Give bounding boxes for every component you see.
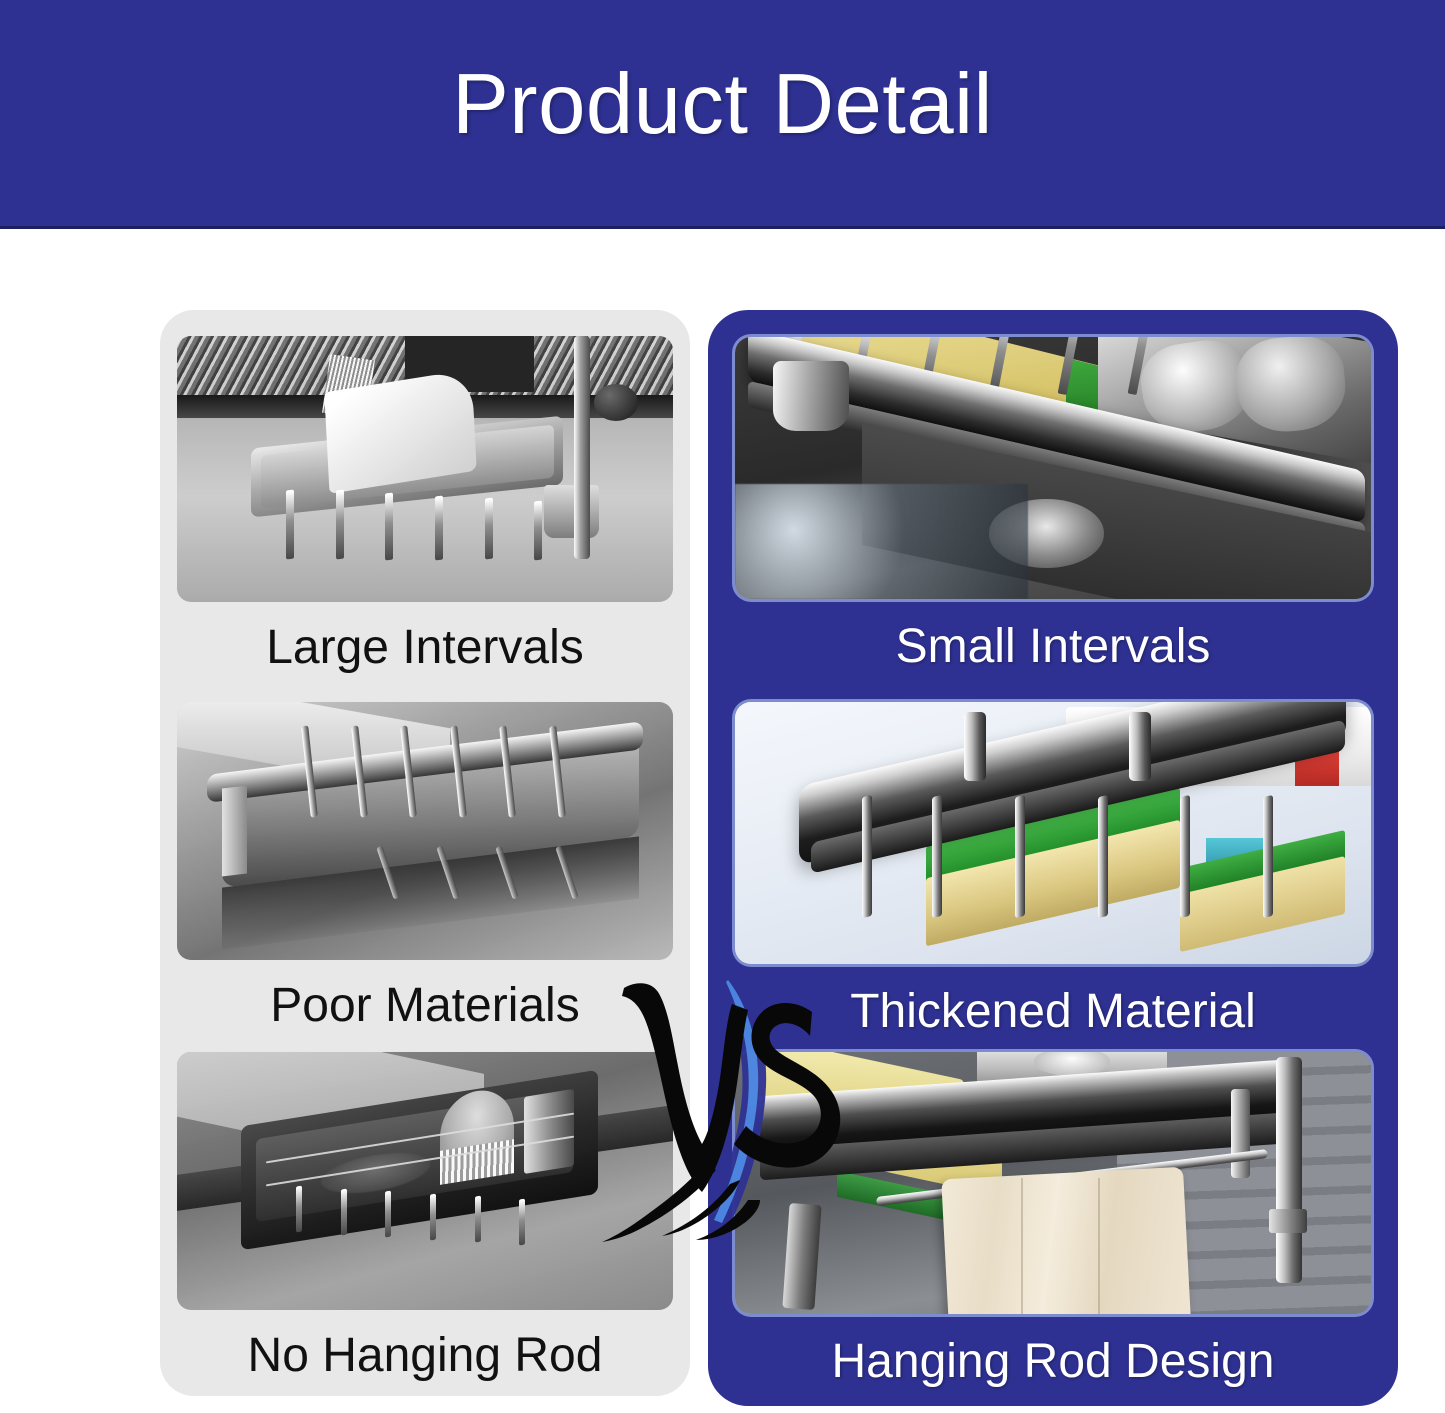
photo-poor-materials: [177, 702, 673, 960]
panel-caption: No Hanging Rod: [160, 1332, 690, 1380]
panel-caption: Thickened Material: [708, 988, 1398, 1036]
comparison-column-right: Small Intervals: [708, 310, 1398, 1406]
header-banner: Product Detail: [0, 0, 1445, 229]
panel-small-intervals: Small Intervals: [708, 337, 1398, 671]
photo-no-hanging-rod: [177, 1052, 673, 1310]
panel-large-intervals: Large Intervals: [160, 336, 690, 672]
comparison-column-left: Large Intervals: [160, 310, 690, 1396]
product-detail-infographic: Product Detail: [0, 0, 1445, 1413]
photo-large-intervals: [177, 336, 673, 602]
panel-caption: Small Intervals: [708, 623, 1398, 671]
panel-poor-materials: Poor Materials: [160, 702, 690, 1030]
panel-caption: Hanging Rod Design: [708, 1338, 1398, 1386]
photo-small-intervals: [735, 337, 1371, 599]
panel-thickened-material: Thickened Material: [708, 702, 1398, 1036]
page-title: Product Detail: [0, 62, 1445, 147]
panel-caption: Poor Materials: [160, 982, 690, 1030]
comparison-area: Large Intervals: [0, 229, 1445, 1413]
panel-no-hanging-rod: No Hanging Rod: [160, 1052, 690, 1380]
photo-thickened-material: [735, 702, 1371, 964]
panel-hanging-rod-design: Hanging Rod Design: [708, 1052, 1398, 1386]
photo-hanging-rod-design: [735, 1052, 1371, 1314]
panel-caption: Large Intervals: [160, 624, 690, 672]
